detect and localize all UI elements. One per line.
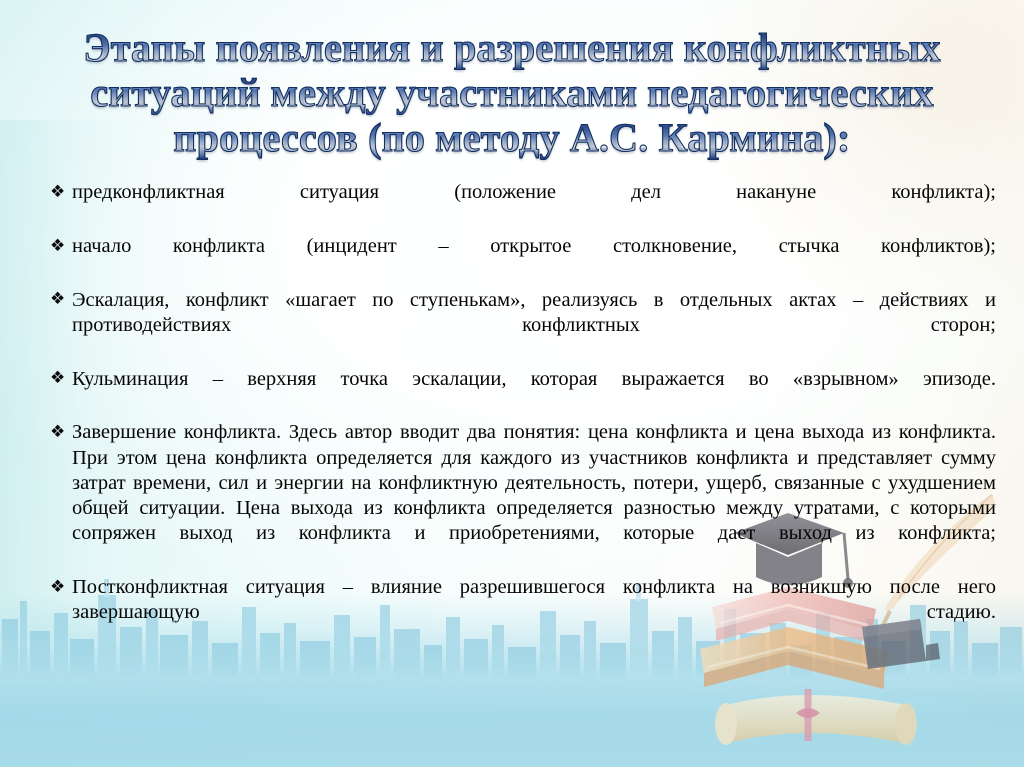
title-line-3: процессов (по методу А.С. Кармина): xyxy=(34,116,990,161)
bullet-text: Постконфликтная ситуация – влияние разре… xyxy=(72,576,996,623)
diamond-bullet-icon: ❖ xyxy=(50,576,65,600)
slide-body: ❖ предконфликтная ситуация (положение де… xyxy=(50,180,996,651)
diploma-scroll-icon xyxy=(715,689,917,745)
slide-canvas: Этапы появления и разрешения конфликтных… xyxy=(0,0,1024,767)
bullet-item: ❖ начало конфликта (инцидент – открытое … xyxy=(50,234,996,285)
slide-title: Этапы появления и разрешения конфликтных… xyxy=(0,0,1024,164)
bullet-text: Завершение конфликта. Здесь автор вводит… xyxy=(72,421,996,544)
bullet-text: Эскалация, конфликт «шагает по ступенька… xyxy=(72,289,996,336)
diamond-bullet-icon: ❖ xyxy=(50,367,65,391)
diamond-bullet-icon: ❖ xyxy=(50,235,65,259)
bullet-item: ❖ Завершение конфликта. Здесь автор ввод… xyxy=(50,420,996,572)
bullet-text: предконфликтная ситуация (положение дел … xyxy=(72,181,996,203)
bullet-item: ❖ Кульминация – верхняя точка эскалации,… xyxy=(50,367,996,418)
title-line-1: Этапы появления и разрешения конфликтных xyxy=(34,26,990,71)
bullet-text: Кульминация – верхняя точка эскалации, к… xyxy=(72,368,996,390)
title-line-2: ситуаций между участниками педагогически… xyxy=(34,71,990,116)
diamond-bullet-icon: ❖ xyxy=(50,288,65,312)
diamond-bullet-icon: ❖ xyxy=(50,421,65,445)
bullet-item: ❖ Постконфликтная ситуация – влияние раз… xyxy=(50,575,996,651)
bullet-item: ❖ предконфликтная ситуация (положение де… xyxy=(50,180,996,231)
diamond-bullet-icon: ❖ xyxy=(50,181,65,205)
bullet-item: ❖ Эскалация, конфликт «шагает по ступень… xyxy=(50,288,996,364)
bullet-text: начало конфликта (инцидент – открытое ст… xyxy=(72,235,996,257)
